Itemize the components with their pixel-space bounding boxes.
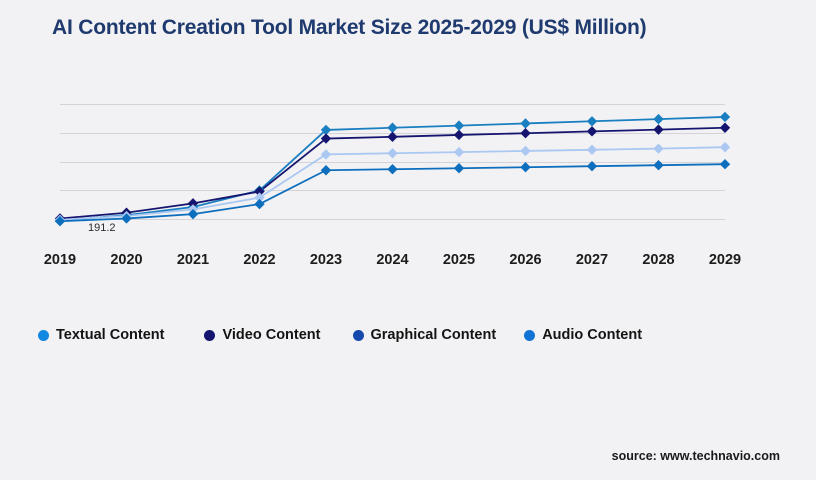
data-point-marker (587, 145, 597, 155)
data-point-marker (587, 116, 597, 126)
legend-item-label: Textual Content (56, 327, 164, 343)
data-point-marker (387, 148, 397, 158)
chart-container: AI Content Creation Tool Market Size 202… (0, 0, 816, 480)
page-title: AI Content Creation Tool Market Size 202… (52, 14, 712, 42)
data-point-marker (720, 159, 730, 169)
chart-legend: Textual ContentVideo ContentGraphical Co… (38, 324, 642, 346)
legend-item-textual-content[interactable]: Textual Content (38, 327, 164, 343)
x-tick-label-2026: 2026 (509, 252, 541, 268)
x-tick-label-2019: 2019 (44, 252, 76, 268)
x-tick-label-2020: 2020 (110, 252, 142, 268)
data-point-marker (454, 120, 464, 130)
data-point-marker (653, 143, 663, 153)
data-point-marker (520, 162, 530, 172)
legend-item-audio-content[interactable]: Audio Content (524, 327, 642, 343)
data-point-label: 191.2 (88, 222, 116, 234)
data-point-marker (387, 123, 397, 133)
legend-marker-icon (524, 330, 535, 341)
data-point-marker (321, 149, 331, 159)
series-lines (60, 104, 725, 248)
legend-marker-icon (38, 330, 49, 341)
x-tick-label-2029: 2029 (709, 252, 741, 268)
data-point-marker (520, 146, 530, 156)
x-tick-label-2028: 2028 (642, 252, 674, 268)
data-point-marker (454, 163, 464, 173)
x-tick-label-2024: 2024 (376, 252, 408, 268)
x-tick-label-2021: 2021 (177, 252, 209, 268)
legend-item-graphical-content[interactable]: Graphical Content (353, 327, 497, 343)
data-point-marker (387, 164, 397, 174)
data-point-marker (321, 165, 331, 175)
legend-item-label: Video Content (222, 327, 320, 343)
data-point-marker (653, 114, 663, 124)
data-point-marker (454, 147, 464, 157)
data-point-marker (587, 126, 597, 136)
x-tick-label-2023: 2023 (310, 252, 342, 268)
data-point-marker (720, 123, 730, 133)
legend-item-label: Graphical Content (371, 327, 497, 343)
x-tick-label-2025: 2025 (443, 252, 475, 268)
data-point-marker (720, 142, 730, 152)
data-point-marker (653, 124, 663, 134)
data-point-marker (454, 130, 464, 140)
data-point-marker (720, 112, 730, 122)
data-point-marker (387, 132, 397, 142)
data-point-marker (587, 161, 597, 171)
legend-item-label: Audio Content (542, 327, 642, 343)
x-tick-label-2027: 2027 (576, 252, 608, 268)
data-point-marker (520, 118, 530, 128)
legend-item-video-content[interactable]: Video Content (204, 327, 320, 343)
x-tick-label-2022: 2022 (243, 252, 275, 268)
data-point-marker (653, 160, 663, 170)
legend-marker-icon (353, 330, 364, 341)
source-note: source: www.technavio.com (612, 449, 780, 463)
x-axis: 2019202020212022202320242025202620272028… (60, 252, 725, 274)
plot-area (60, 104, 725, 248)
data-point-marker (254, 199, 264, 209)
data-point-marker (520, 128, 530, 138)
legend-marker-icon (204, 330, 215, 341)
